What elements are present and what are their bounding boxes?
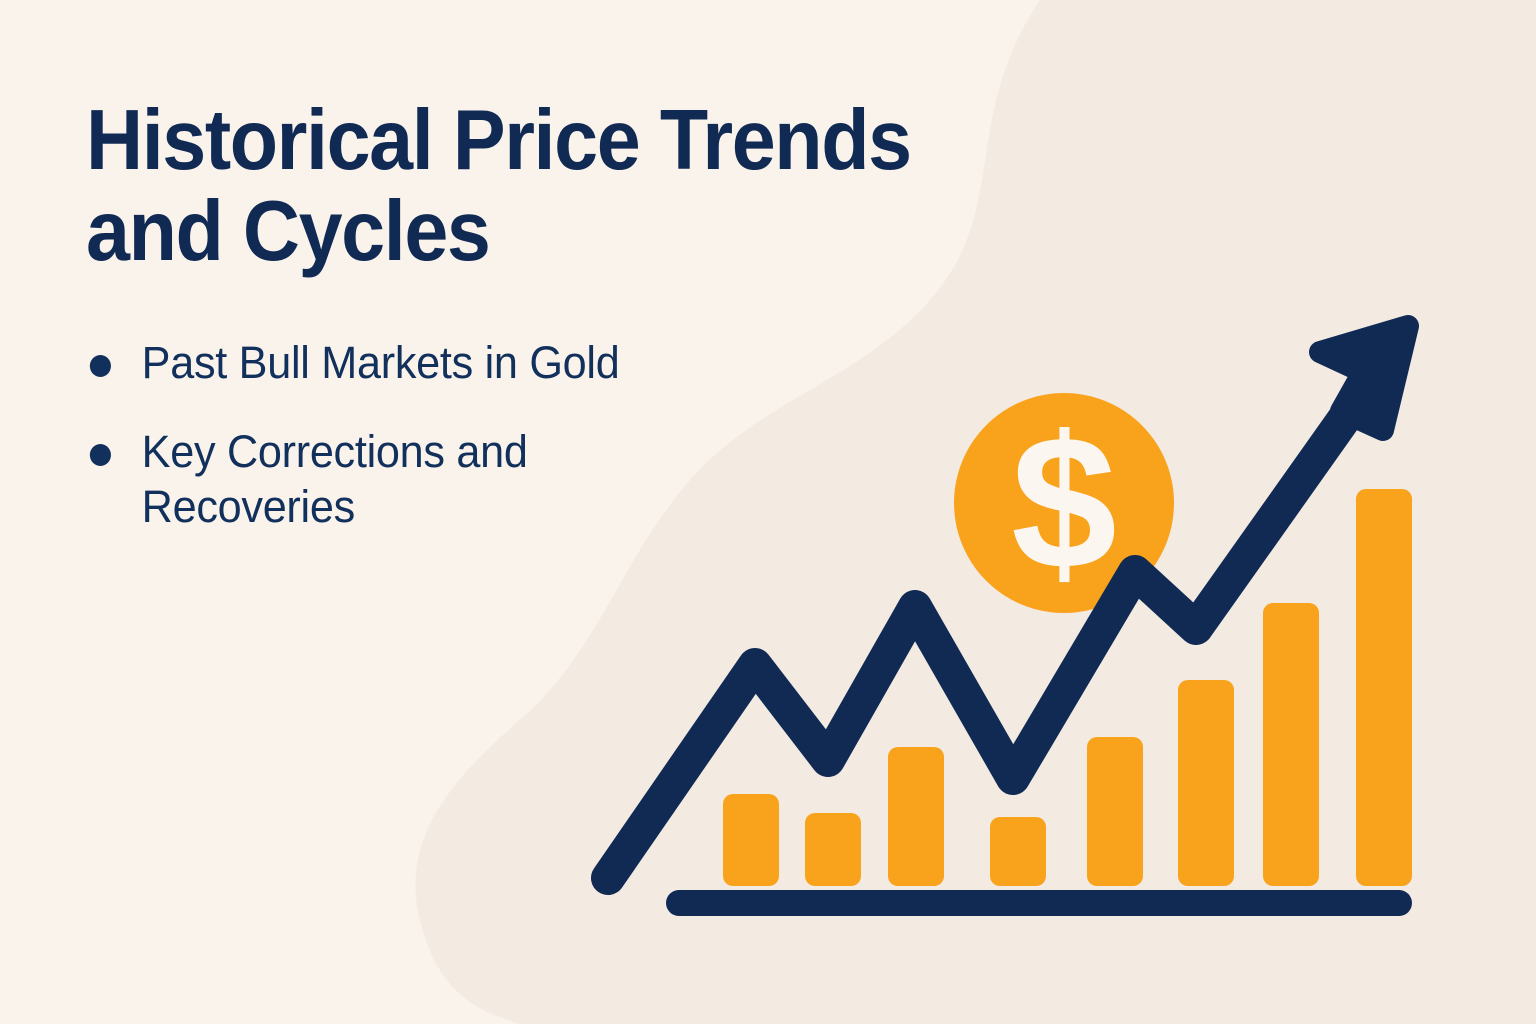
page-title: Historical Price Trends and Cycles: [86, 96, 1072, 278]
text-column: Historical Price Trends and Cycles Past …: [86, 96, 1146, 569]
bar: [1356, 489, 1412, 886]
bullet-list: Past Bull Markets in Gold Key Correction…: [86, 336, 1146, 535]
bullet-label: Past Bull Markets in Gold: [142, 337, 620, 388]
bar: [805, 813, 861, 886]
bar: [990, 817, 1046, 886]
bar: [723, 794, 779, 886]
bar: [1178, 680, 1234, 886]
bar: [888, 747, 944, 886]
bar: [1263, 603, 1319, 886]
bullet-label: Key Corrections and Recoveries: [142, 426, 528, 532]
arrow-head-icon: [1320, 326, 1408, 430]
bullet-dot-icon: [90, 355, 111, 377]
list-item: Key Corrections and Recoveries: [86, 425, 737, 535]
bar: [1087, 737, 1143, 886]
axis-baseline: [666, 890, 1412, 916]
list-item: Past Bull Markets in Gold: [86, 336, 737, 391]
bullet-dot-icon: [90, 444, 111, 466]
slide-canvas: Historical Price Trends and Cycles Past …: [0, 0, 1536, 1024]
